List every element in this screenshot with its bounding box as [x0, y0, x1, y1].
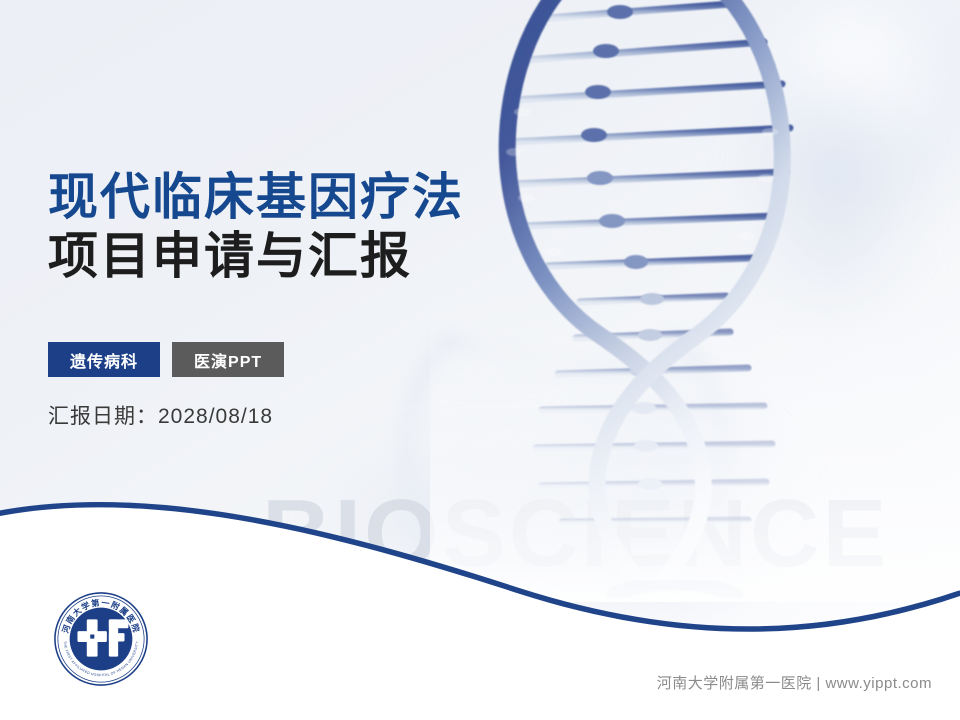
title-slide: BIOSCIENCE: [0, 0, 960, 720]
hospital-crest-logo: 河南大学第一附属医院 THE FIRST AFFILIATED HOSPITAL…: [52, 590, 150, 688]
badge-template[interactable]: 医演PPT: [172, 342, 284, 377]
title-line-2: 项目申请与汇报: [48, 227, 568, 286]
page-title: 现代临床基因疗法 项目申请与汇报: [48, 168, 568, 286]
badge-group: 遗传病科 医演PPT: [48, 342, 284, 377]
footer-credit: 河南大学附属第一医院 | www.yippt.com: [657, 672, 932, 693]
logo-year: 1949: [94, 663, 109, 670]
report-date: 汇报日期：2028/08/18: [48, 400, 273, 430]
badge-department[interactable]: 遗传病科: [48, 342, 160, 377]
title-line-1: 现代临床基因疗法: [48, 168, 568, 227]
